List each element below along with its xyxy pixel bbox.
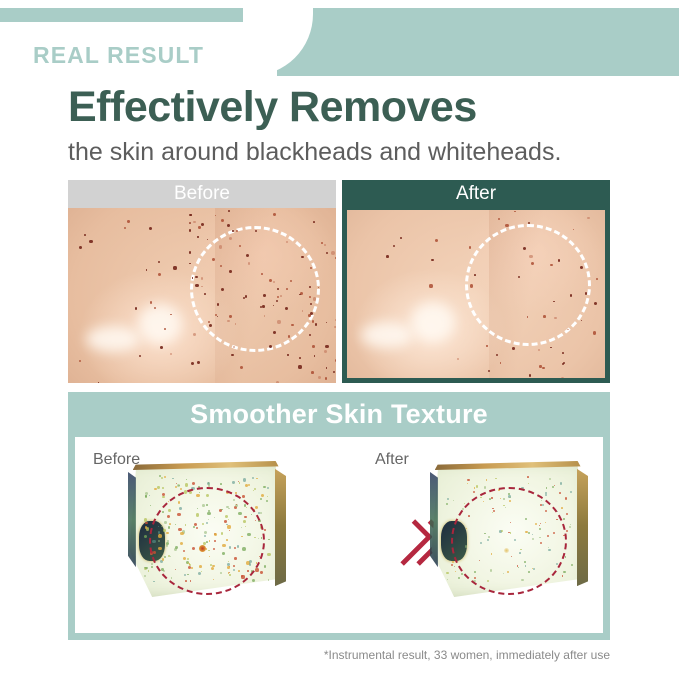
- blackhead-dot: [263, 294, 266, 297]
- blackhead-dot: [192, 277, 193, 278]
- blackhead-dot: [189, 251, 192, 254]
- scan-speckle: [267, 496, 268, 497]
- scan-speckle: [566, 530, 568, 532]
- scan-speckle: [157, 486, 159, 488]
- blackhead-dot: [512, 347, 515, 350]
- after-photo-card: After: [342, 180, 610, 383]
- blackhead-dot: [287, 354, 288, 355]
- blackhead-dot: [150, 301, 153, 304]
- blackhead-dot: [201, 277, 204, 280]
- scan-speckle: [447, 579, 448, 580]
- blackhead-dot: [313, 297, 316, 300]
- texture-panel-title: Smoother Skin Texture: [75, 392, 603, 437]
- before-scan-circle: [149, 487, 265, 595]
- before-highlight-circle: [190, 226, 320, 352]
- scan-speckle: [561, 507, 563, 509]
- after-scan-circle: [451, 487, 567, 595]
- blackhead-dot: [260, 306, 262, 308]
- blackhead-dot: [219, 245, 222, 248]
- after-photo: [347, 210, 605, 378]
- blackhead-dot: [488, 370, 490, 372]
- blackhead-dot: [335, 319, 336, 321]
- blackhead-dot: [227, 224, 230, 227]
- page-subtitle: the skin around blackheads and whitehead…: [68, 140, 561, 165]
- blackhead-dot: [229, 270, 232, 273]
- blackhead-dot: [229, 315, 231, 317]
- blackhead-dot: [312, 345, 315, 348]
- blackhead-dot: [543, 315, 546, 318]
- blackhead-dot: [311, 371, 314, 374]
- scan-speckle: [563, 571, 565, 573]
- blackhead-dot: [331, 251, 335, 255]
- blackhead-dot: [276, 381, 279, 383]
- marketing-image: REAL RESULT Effectively Removes the skin…: [0, 0, 679, 679]
- scan-speckle: [527, 476, 529, 478]
- blackhead-dot: [596, 278, 598, 280]
- blackhead-dot: [325, 345, 328, 348]
- blackhead-dot: [262, 305, 265, 308]
- blackhead-dot: [335, 359, 336, 363]
- scan-speckle: [565, 556, 567, 558]
- scan-speckle: [151, 566, 153, 568]
- blackhead-dot: [309, 296, 311, 298]
- blackhead-dot: [146, 269, 147, 270]
- blackhead-dot: [474, 274, 476, 276]
- blackhead-dot: [280, 295, 282, 297]
- scan-speckle: [151, 563, 153, 565]
- blackhead-dot: [299, 357, 301, 359]
- blackhead-dot: [309, 286, 311, 288]
- blackhead-dot: [324, 350, 327, 353]
- blackhead-dot: [209, 324, 212, 327]
- scan-speckle: [162, 487, 164, 489]
- blackhead-dot: [195, 284, 198, 287]
- blackhead-dot: [542, 367, 544, 369]
- before-texture-scan: [123, 461, 285, 597]
- scan-speckle: [150, 505, 151, 506]
- header-band-notch-fill: [243, 8, 277, 76]
- scan-right-edge: [577, 466, 588, 586]
- blackhead-dot: [580, 266, 583, 269]
- blackhead-dot: [324, 244, 326, 246]
- blackhead-dot: [79, 246, 82, 249]
- blackhead-dot: [228, 210, 230, 212]
- blackhead-dot: [232, 230, 233, 231]
- blackhead-dot: [539, 365, 541, 367]
- scan-speckle: [159, 475, 161, 477]
- blackhead-dot: [127, 220, 130, 223]
- after-texture-scan: [425, 461, 587, 597]
- blackhead-dot: [470, 284, 473, 287]
- blackhead-dot: [593, 331, 596, 334]
- blackhead-dot: [195, 276, 197, 278]
- blackhead-dot: [170, 353, 172, 355]
- blackhead-dot: [298, 365, 301, 368]
- blackhead-dot: [198, 226, 200, 228]
- scan-speckle: [220, 483, 222, 485]
- scan-speckle: [476, 485, 478, 487]
- texture-after-label: After: [375, 451, 409, 469]
- blackhead-dot: [227, 320, 230, 323]
- blackhead-dot: [217, 303, 220, 306]
- scan-left-edge: [430, 472, 438, 567]
- blackhead-dot: [310, 267, 312, 269]
- footnote: *Instrumental result, 33 women, immediat…: [0, 648, 610, 662]
- after-caption: After: [342, 180, 610, 208]
- skin-highlight: [361, 322, 413, 348]
- scan-right-edge: [275, 466, 286, 586]
- blackhead-dot: [204, 293, 206, 295]
- skin-highlight: [411, 302, 455, 342]
- scan-speckle: [467, 479, 469, 481]
- blackhead-dot: [429, 284, 432, 287]
- scan-speckle: [260, 512, 262, 514]
- scan-speckle: [267, 553, 270, 556]
- scan-speckle: [252, 579, 255, 582]
- blackhead-dot: [302, 310, 304, 312]
- blackhead-dot: [246, 254, 249, 257]
- blackhead-dot: [310, 312, 313, 315]
- blackhead-dot: [505, 224, 508, 227]
- blackhead-dot: [170, 314, 171, 315]
- blackhead-dot: [235, 323, 237, 325]
- blackhead-dot: [321, 242, 323, 244]
- eyebrow-label: REAL RESULT: [33, 42, 204, 69]
- before-photo: [68, 208, 336, 383]
- scan-speckle: [192, 482, 195, 485]
- blackhead-dot: [334, 326, 336, 329]
- blackhead-dot: [245, 295, 247, 297]
- blackhead-dot: [570, 294, 572, 296]
- blackhead-dot: [160, 346, 163, 349]
- scan-speckle: [144, 518, 147, 521]
- scan-left-edge: [128, 472, 136, 567]
- blackhead-dot: [528, 222, 530, 224]
- texture-panel: Smoother Skin Texture Before After: [68, 392, 610, 640]
- blackhead-dot: [558, 259, 560, 261]
- scan-speckle: [255, 506, 258, 509]
- blackhead-dot: [98, 382, 99, 383]
- before-caption: Before: [68, 180, 336, 208]
- photo-comparison: Before After: [68, 180, 610, 383]
- blackhead-dot: [554, 317, 557, 320]
- blackhead-dot: [273, 331, 276, 334]
- blackhead-dot: [386, 255, 389, 258]
- scan-speckle: [563, 518, 565, 520]
- blackhead-dot: [562, 352, 564, 354]
- scan-speckle: [252, 477, 254, 479]
- scan-speckle: [570, 524, 571, 525]
- scan-speckle: [145, 526, 147, 528]
- scan-speckle: [154, 488, 156, 490]
- scan-speckle: [446, 572, 448, 574]
- scan-speckle: [268, 579, 269, 580]
- blackhead-dot: [529, 255, 533, 259]
- blackhead-dot: [173, 266, 176, 269]
- blackhead-dot: [587, 217, 590, 220]
- blackhead-dot: [561, 377, 564, 378]
- blackhead-dot: [212, 258, 215, 261]
- blackhead-dot: [301, 256, 303, 258]
- scan-speckle: [149, 495, 150, 496]
- blackhead-dot: [288, 335, 290, 337]
- scan-speckle: [239, 482, 241, 484]
- blackhead-dot: [84, 234, 86, 236]
- blackhead-dot: [335, 257, 336, 260]
- blackhead-dot: [531, 262, 534, 265]
- scan-speckle: [260, 571, 262, 573]
- blackhead-dot: [309, 334, 311, 336]
- scan-speckle: [560, 482, 562, 484]
- texture-panel-body: Before After: [75, 437, 603, 633]
- header-band-right-block: [265, 8, 679, 76]
- scan-speckle: [232, 481, 234, 483]
- before-photo-card: Before: [68, 180, 336, 383]
- skin-highlight: [138, 304, 182, 344]
- blackhead-dot: [277, 320, 280, 323]
- blackhead-dot: [435, 239, 438, 242]
- scan-speckle: [264, 529, 266, 531]
- blackhead-dot: [191, 362, 194, 365]
- skin-highlight: [86, 326, 140, 352]
- blackhead-dot: [89, 240, 92, 243]
- page-title: Effectively Removes: [68, 86, 477, 129]
- blackhead-dot: [189, 229, 191, 231]
- scan-speckle: [243, 478, 247, 482]
- blackhead-dot: [486, 345, 487, 346]
- blackhead-dot: [139, 355, 141, 357]
- blackhead-dot: [149, 227, 152, 230]
- scan-speckle: [458, 577, 460, 579]
- scan-speckle: [264, 565, 267, 568]
- blackhead-dot: [469, 246, 472, 249]
- scan-speckle: [474, 487, 475, 488]
- blackhead-dot: [197, 236, 198, 237]
- after-highlight-circle: [465, 224, 591, 346]
